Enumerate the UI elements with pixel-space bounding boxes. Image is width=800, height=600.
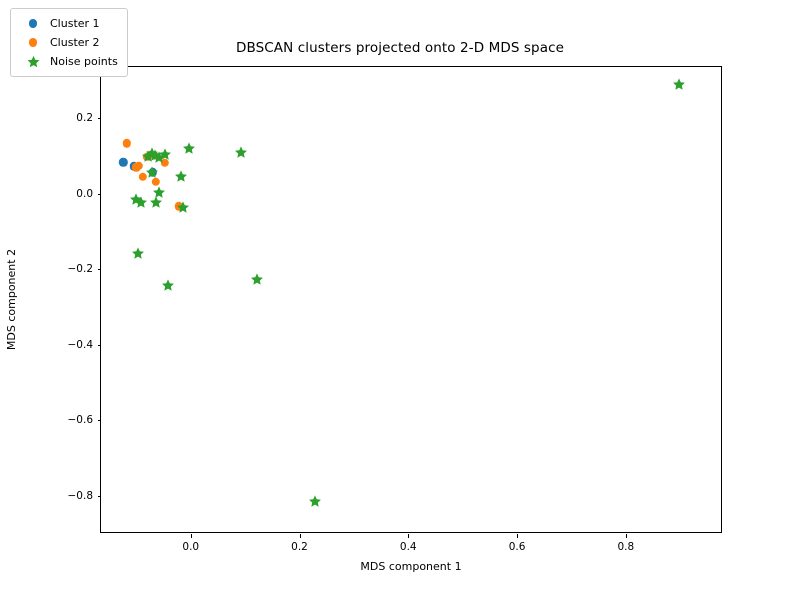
- y-axis-tick-label: 0.0: [76, 188, 93, 200]
- scatter-plot-area: [101, 67, 721, 532]
- y-axis-tick-label: −0.6: [68, 414, 94, 426]
- y-axis-tick: [98, 269, 102, 270]
- legend-item-2[interactable]: Cluster 2: [18, 33, 118, 52]
- data-point: [309, 495, 322, 508]
- y-axis-tick-label: 0.2: [76, 112, 93, 124]
- data-point: [177, 201, 190, 214]
- star-icon: [18, 55, 48, 68]
- x-axis-tick-label: 0.4: [400, 541, 417, 553]
- x-axis-tick-label: 0.0: [182, 541, 199, 553]
- data-point: [235, 145, 248, 158]
- legend-item-label: Cluster 2: [48, 36, 100, 49]
- x-axis-tick-label: 0.6: [509, 541, 526, 553]
- circle-icon: [18, 38, 48, 46]
- chart-legend: Cluster 1Cluster 2Noise points: [10, 8, 128, 77]
- y-axis-tick: [98, 496, 102, 497]
- data-point: [123, 139, 131, 147]
- legend-item-label: Cluster 1: [48, 17, 100, 30]
- y-axis-tick: [98, 420, 102, 421]
- circle-icon: [18, 19, 48, 27]
- data-point: [119, 158, 127, 166]
- y-axis-tick: [98, 194, 102, 195]
- data-point: [134, 195, 147, 208]
- x-axis-tick: [408, 534, 409, 538]
- data-point: [146, 165, 159, 178]
- y-axis-label: MDS component 2: [0, 66, 24, 533]
- data-point: [158, 148, 171, 161]
- x-axis-tick-label: 0.8: [617, 541, 634, 553]
- legend-item-3[interactable]: Noise points: [18, 52, 118, 71]
- y-axis-tick-label: −0.8: [68, 490, 94, 502]
- plot-axes: 0.00.20.40.60.80.20.0−0.2−0.4−0.6−0.8: [100, 66, 722, 533]
- data-point: [182, 142, 195, 155]
- x-axis-tick-label: 0.2: [291, 541, 308, 553]
- x-axis-label: MDS component 1: [100, 560, 722, 573]
- matplotlib-figure: DBSCAN clusters projected onto 2-D MDS s…: [0, 0, 800, 600]
- data-point: [162, 278, 175, 291]
- y-axis-tick-label: −0.2: [68, 263, 94, 275]
- data-point: [131, 247, 144, 260]
- legend-item-label: Noise points: [48, 55, 118, 68]
- y-axis-tick-label: −0.4: [68, 339, 94, 351]
- data-point: [175, 170, 188, 183]
- y-axis-tick: [98, 345, 102, 346]
- data-point: [135, 161, 143, 169]
- legend-item-1[interactable]: Cluster 1: [18, 14, 118, 33]
- x-axis-tick: [300, 534, 301, 538]
- data-point: [150, 195, 163, 208]
- y-axis-tick: [98, 118, 102, 119]
- x-axis-tick: [517, 534, 518, 538]
- y-axis-label-text: MDS component 2: [6, 249, 19, 350]
- data-point: [251, 273, 264, 286]
- x-axis-tick: [191, 534, 192, 538]
- x-axis-tick: [626, 534, 627, 538]
- data-point: [673, 77, 686, 90]
